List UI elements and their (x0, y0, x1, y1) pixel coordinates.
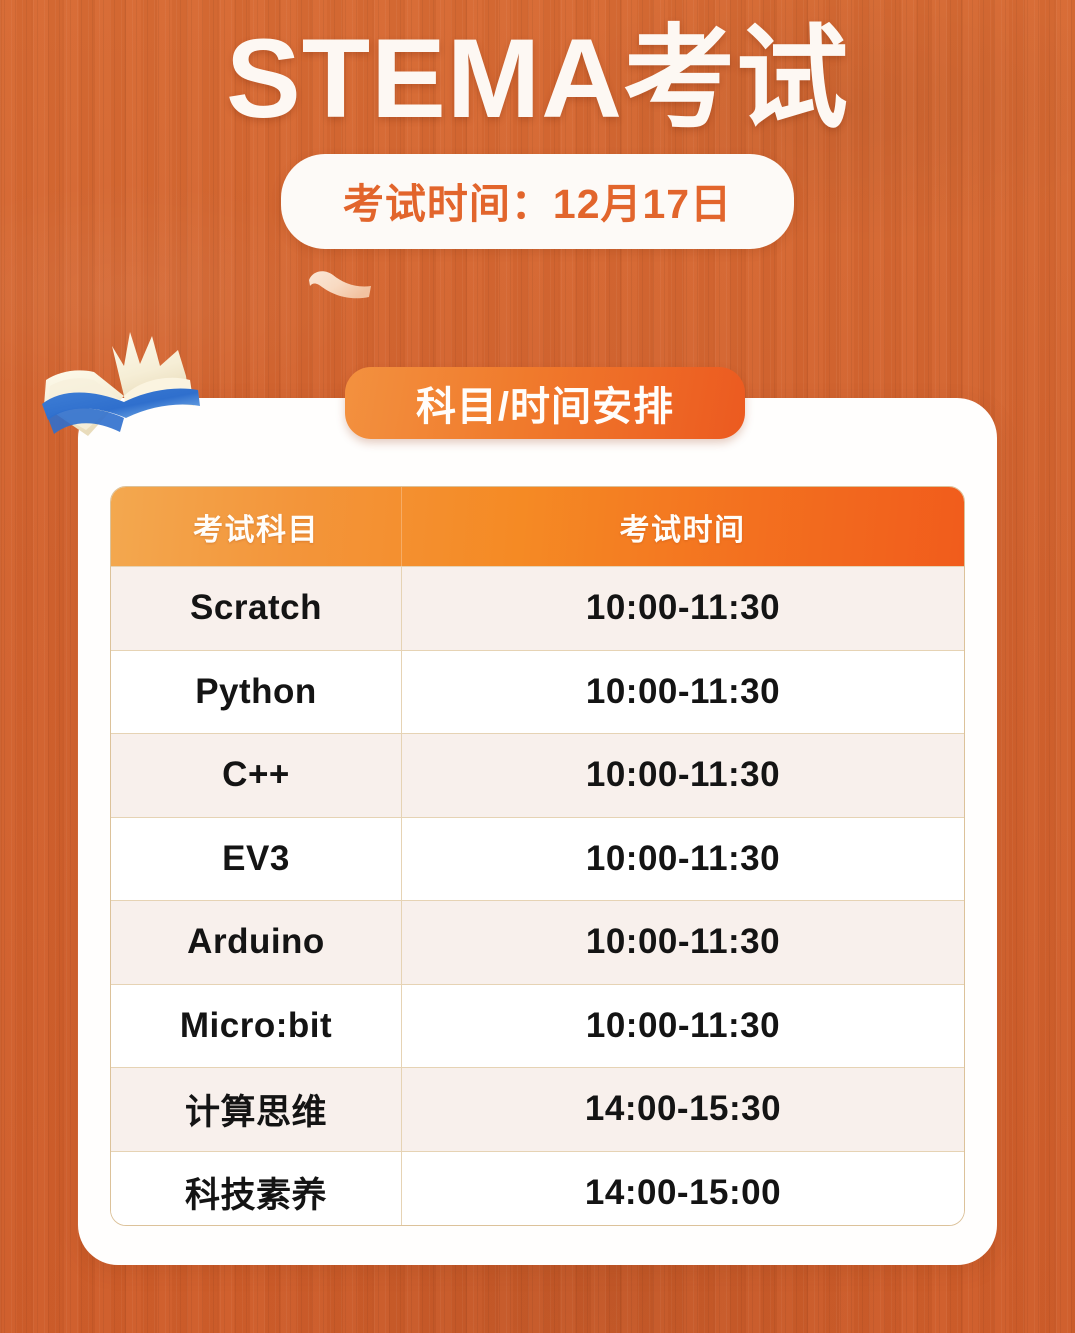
table-row: Python 10:00-11:30 (111, 650, 964, 734)
poster-header: STEMA考试 考试时间：12月17日 (0, 0, 1075, 249)
cell-subject: Micro:bit (111, 985, 402, 1068)
table-row: 计算思维 14:00-15:30 (111, 1067, 964, 1151)
exam-date-badge: 考试时间：12月17日 (281, 154, 794, 249)
cell-time: 10:00-11:30 (402, 901, 964, 984)
section-tab-label: 科目/时间安排 (416, 374, 674, 432)
cell-time: 14:00-15:30 (402, 1068, 964, 1151)
column-header-subject: 考试科目 (111, 487, 401, 566)
cell-subject: 计算思维 (111, 1068, 402, 1151)
cell-subject: 科技素养 (111, 1152, 402, 1227)
table-row: EV3 10:00-11:30 (111, 817, 964, 901)
cell-subject: Scratch (111, 567, 402, 650)
cell-subject: C++ (111, 734, 402, 817)
table-row: Micro:bit 10:00-11:30 (111, 984, 964, 1068)
cell-subject: EV3 (111, 818, 402, 901)
column-header-time: 考试时间 (401, 487, 964, 566)
table-row: C++ 10:00-11:30 (111, 733, 964, 817)
cell-time: 10:00-11:30 (402, 651, 964, 734)
ribbon-swoosh-icon (303, 264, 377, 306)
cell-time: 10:00-11:30 (402, 734, 964, 817)
cell-subject: Python (111, 651, 402, 734)
table-row: Scratch 10:00-11:30 (111, 566, 964, 650)
table-row: 科技素养 14:00-15:00 (111, 1151, 964, 1227)
section-tab-schedule: 科目/时间安排 (345, 367, 745, 439)
cell-time: 10:00-11:30 (402, 567, 964, 650)
cell-time: 14:00-15:00 (402, 1152, 964, 1227)
table-row: Arduino 10:00-11:30 (111, 900, 964, 984)
table-header-row: 考试科目 考试时间 (111, 487, 964, 566)
exam-schedule-table: 考试科目 考试时间 Scratch 10:00-11:30 Python 10:… (110, 486, 965, 1226)
cell-time: 10:00-11:30 (402, 985, 964, 1068)
cell-time: 10:00-11:30 (402, 818, 964, 901)
page-title: STEMA考试 (0, 0, 1075, 136)
cell-subject: Arduino (111, 901, 402, 984)
